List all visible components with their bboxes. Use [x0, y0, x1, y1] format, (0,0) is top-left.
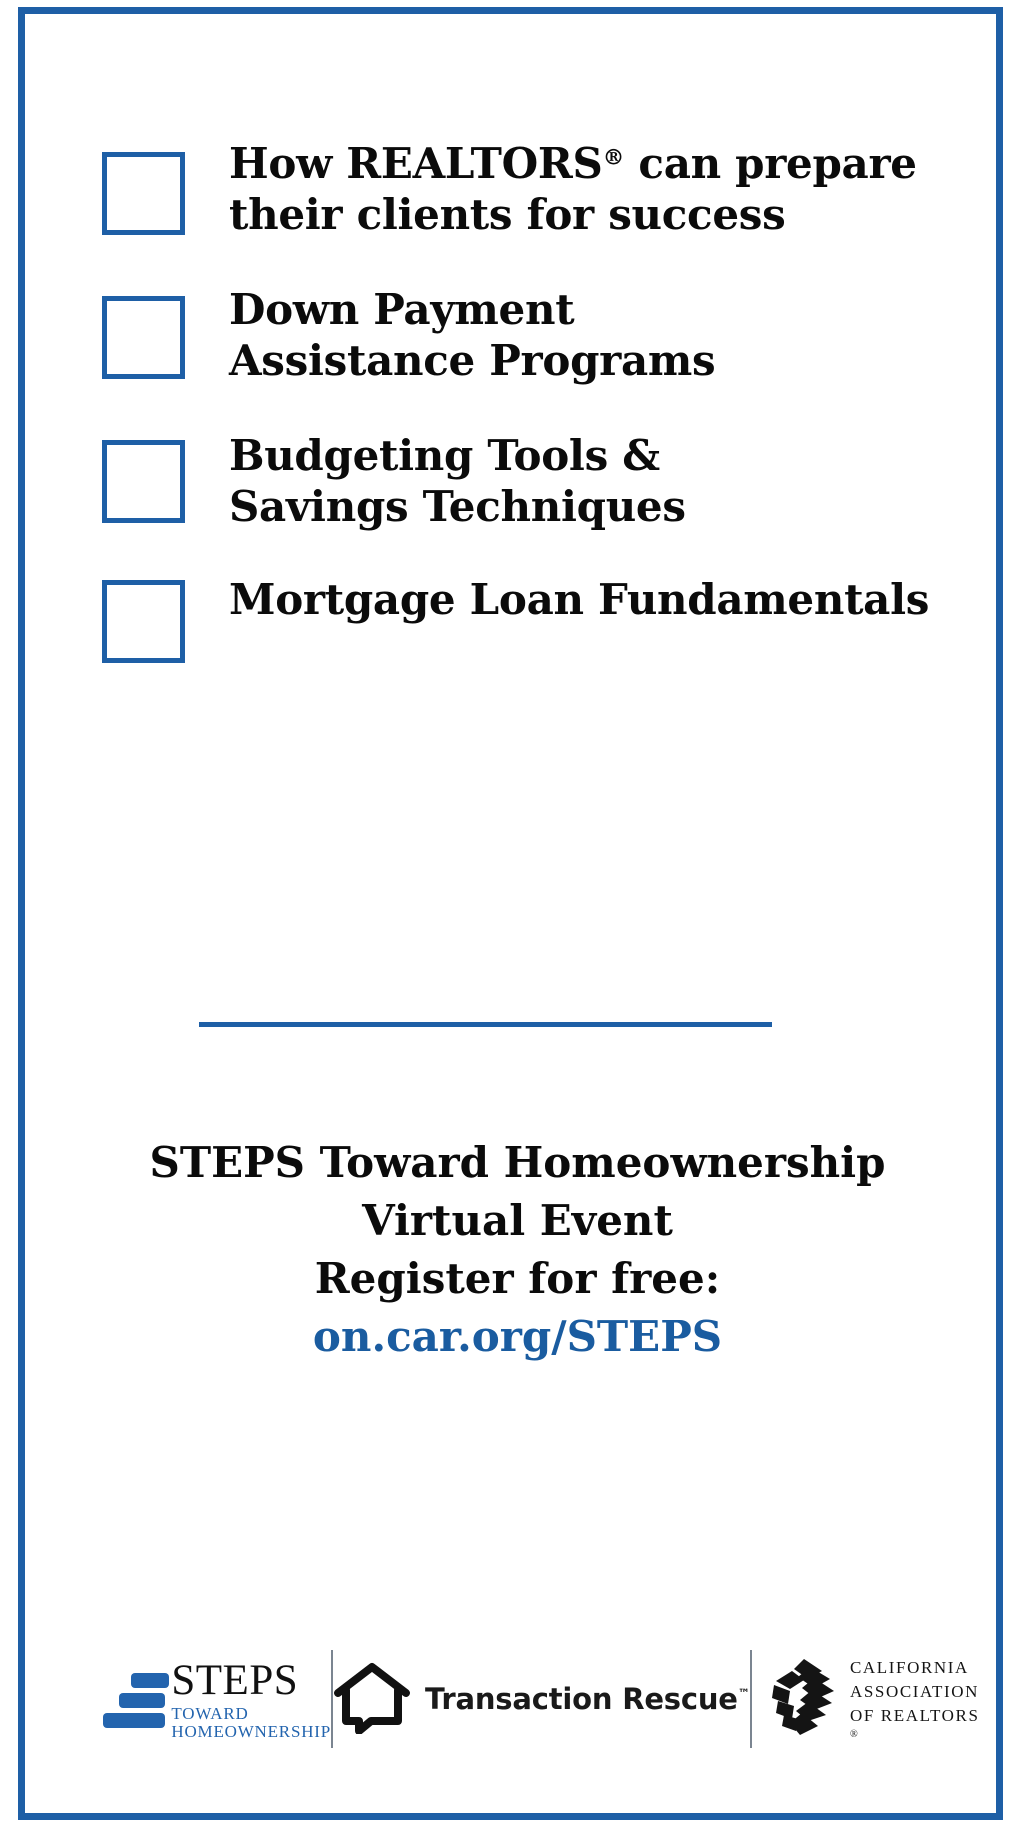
event-register-prompt: Register for free: [55, 1250, 980, 1308]
checkbox-unchecked[interactable] [102, 440, 185, 523]
car-logo-line-3-wrap: OF REALTORS® [850, 1704, 980, 1743]
checklist-item-text-cont: can prepare [624, 139, 917, 188]
trademark-icon: ™ [738, 1686, 750, 1700]
checkbox-unchecked[interactable] [102, 152, 185, 235]
poster-canvas: How REALTORS® can prepare their clients … [0, 0, 1021, 1827]
car-logo-line-2: ASSOCIATION [850, 1680, 980, 1704]
car-logo-line-3: OF REALTORS [850, 1704, 980, 1728]
checklist-item-label: Budgeting Tools & Savings Techniques [229, 426, 686, 532]
stair-steps-icon [103, 1668, 167, 1730]
steps-logo-wordmark: STEPS TOWARD HOMEOWNERSHIP [171, 1659, 331, 1740]
steps-logo-subline-2: HOMEOWNERSHIP [171, 1723, 331, 1740]
car-bear-mark-icon [764, 1657, 838, 1742]
logo-transaction-rescue[interactable]: Transaction Rescue™ [333, 1649, 750, 1749]
event-title-line2: Virtual Event [55, 1192, 980, 1250]
checklist-item-text-line2: Assistance Programs [229, 335, 715, 386]
transaction-rescue-text: Transaction Rescue [425, 1682, 738, 1716]
house-speech-bubble-icon [333, 1660, 411, 1739]
checklist-item[interactable]: Budgeting Tools & Savings Techniques [102, 426, 932, 538]
logo-steps-toward-homeownership[interactable]: STEPS TOWARD HOMEOWNERSHIP [95, 1649, 331, 1749]
checklist-item-label: Down Payment Assistance Programs [229, 280, 715, 386]
checklist-item-text-line1: Mortgage Loan Fundamentals [229, 574, 929, 625]
checklist-item-label: Mortgage Loan Fundamentals [229, 570, 929, 625]
event-title-line1: STEPS Toward Homeownership [55, 1134, 980, 1192]
car-logo-wordmark: CALIFORNIA ASSOCIATION OF REALTORS® [850, 1656, 980, 1743]
checkbox-unchecked[interactable] [102, 580, 185, 663]
checklist: How REALTORS® can prepare their clients … [102, 134, 932, 682]
checklist-item-text-line1: Down Payment [229, 284, 715, 335]
checklist-item-text-line2: Savings Techniques [229, 481, 686, 532]
steps-logo-subline-1: TOWARD [171, 1705, 331, 1722]
checklist-item[interactable]: How REALTORS® can prepare their clients … [102, 134, 932, 246]
checklist-item-text-line2: their clients for success [229, 189, 917, 240]
event-registration-link[interactable]: on.car.org/STEPS [55, 1308, 980, 1366]
footer-logo-bar: STEPS TOWARD HOMEOWNERSHIP Transaction R… [95, 1639, 955, 1759]
poster-blue-frame: How REALTORS® can prepare their clients … [18, 7, 1003, 1820]
transaction-rescue-wordmark: Transaction Rescue™ [425, 1682, 750, 1716]
checklist-item-text: How REALTORS [229, 139, 603, 188]
checkbox-unchecked[interactable] [102, 296, 185, 379]
registered-trademark-icon: ® [603, 144, 625, 170]
checklist-item-label: How REALTORS® can prepare their clients … [229, 134, 917, 240]
checklist-item-text-line1: Budgeting Tools & [229, 430, 686, 481]
event-info: STEPS Toward Homeownership Virtual Event… [55, 1134, 980, 1366]
section-divider [199, 1022, 772, 1027]
checklist-item[interactable]: Mortgage Loan Fundamentals [102, 570, 932, 682]
registered-trademark-icon: ® [850, 1728, 980, 1742]
checklist-item[interactable]: Down Payment Assistance Programs [102, 280, 932, 392]
logo-california-association-of-realtors[interactable]: CALIFORNIA ASSOCIATION OF REALTORS® [752, 1649, 992, 1749]
car-logo-line-1: CALIFORNIA [850, 1656, 980, 1680]
steps-logo-word: STEPS [171, 1659, 331, 1702]
